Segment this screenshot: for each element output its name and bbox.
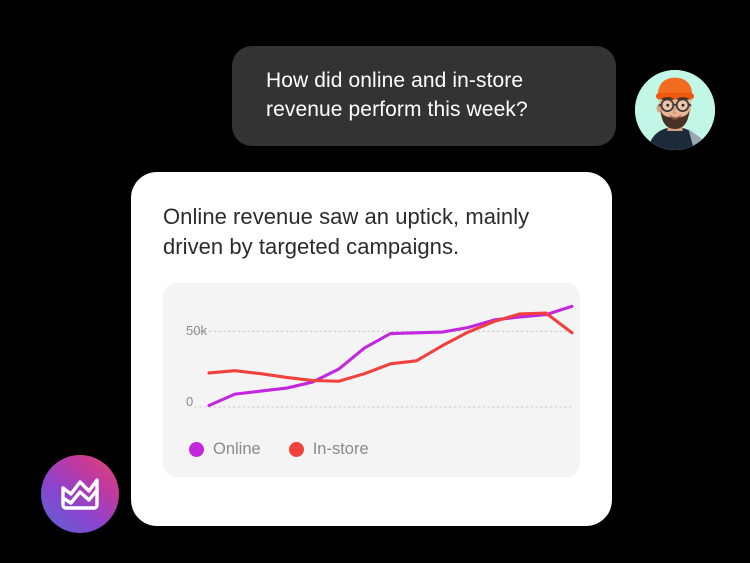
chart-legend: Online In-store <box>189 440 369 459</box>
revenue-line-chart <box>163 283 580 429</box>
y-axis-tick-50k: 50k <box>186 323 207 338</box>
app-icon-button[interactable] <box>41 455 119 533</box>
series-line-in-store <box>209 313 572 381</box>
legend-label-online: Online <box>213 440 261 459</box>
avatar[interactable] <box>633 68 717 152</box>
chart-series-lines <box>209 306 572 405</box>
legend-color-dot-in-store <box>289 442 304 457</box>
chart-gridlines <box>195 331 572 407</box>
answer-card: Online revenue saw an uptick, mainly dri… <box>131 172 612 526</box>
question-message-bubble[interactable]: How did online and in-store revenue perf… <box>232 46 616 146</box>
legend-item-in-store[interactable]: In-store <box>289 440 369 459</box>
answer-title: Online revenue saw an uptick, mainly dri… <box>163 202 580 263</box>
y-axis-tick-0: 0 <box>186 394 193 409</box>
chart-plot-area <box>163 283 580 429</box>
legend-label-in-store: In-store <box>313 440 369 459</box>
app-root: How did online and in-store revenue perf… <box>0 0 750 563</box>
chart-panel: 50k 0 Online In-store <box>163 283 580 477</box>
user-avatar-photo <box>635 70 715 150</box>
legend-color-dot-online <box>189 442 204 457</box>
question-message-text: How did online and in-store revenue perf… <box>266 67 582 125</box>
legend-item-online[interactable]: Online <box>189 440 261 459</box>
series-line-online <box>209 306 572 405</box>
area-chart-icon <box>60 477 100 511</box>
